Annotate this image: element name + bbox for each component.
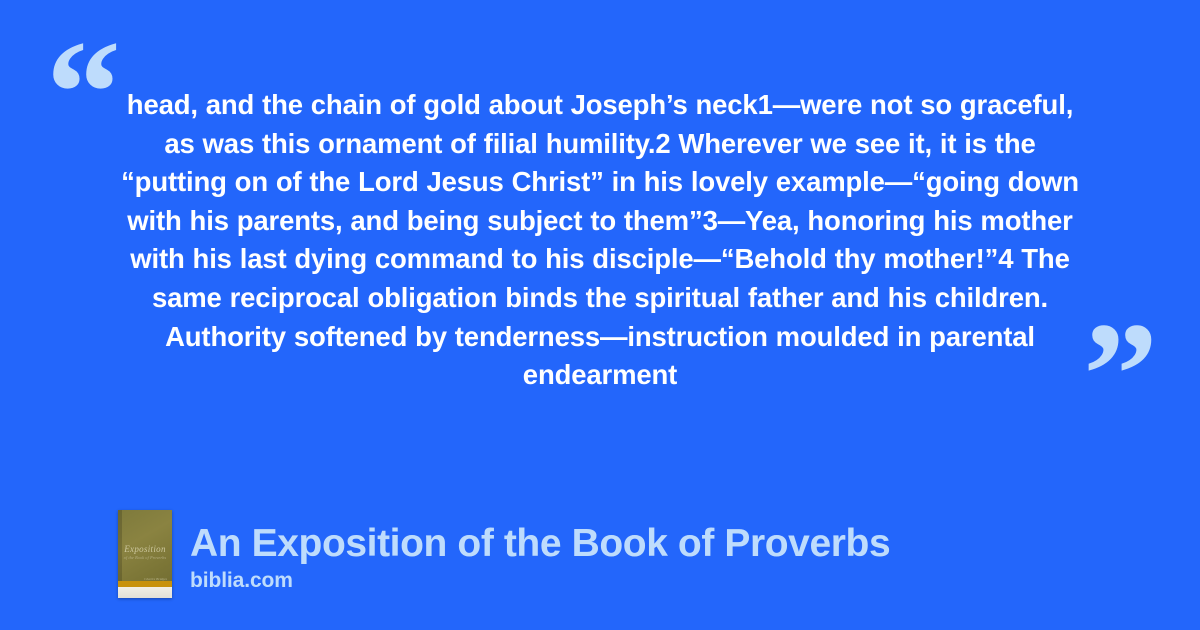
footer-text-group: An Exposition of the Book of Proverbs bi… [190,522,890,598]
book-cover-thumbnail: Exposition of the Book of Proverbs Charl… [118,510,172,598]
resource-title: An Exposition of the Book of Proverbs [190,522,890,566]
close-quote-icon: ” [1083,300,1158,450]
quote-body-text: head, and the chain of gold about Joseph… [118,86,1082,395]
footer: Exposition of the Book of Proverbs Charl… [118,510,890,598]
quote-share-card: “ ” head, and the chain of gold about Jo… [0,0,1200,630]
site-url[interactable]: biblia.com [190,568,890,594]
book-cover-bottom-band [118,587,172,598]
book-cover-subtitle-text: of the Book of Proverbs [118,555,172,560]
open-quote-icon: “ [46,18,121,168]
book-cover-title-text: Exposition [118,544,172,554]
